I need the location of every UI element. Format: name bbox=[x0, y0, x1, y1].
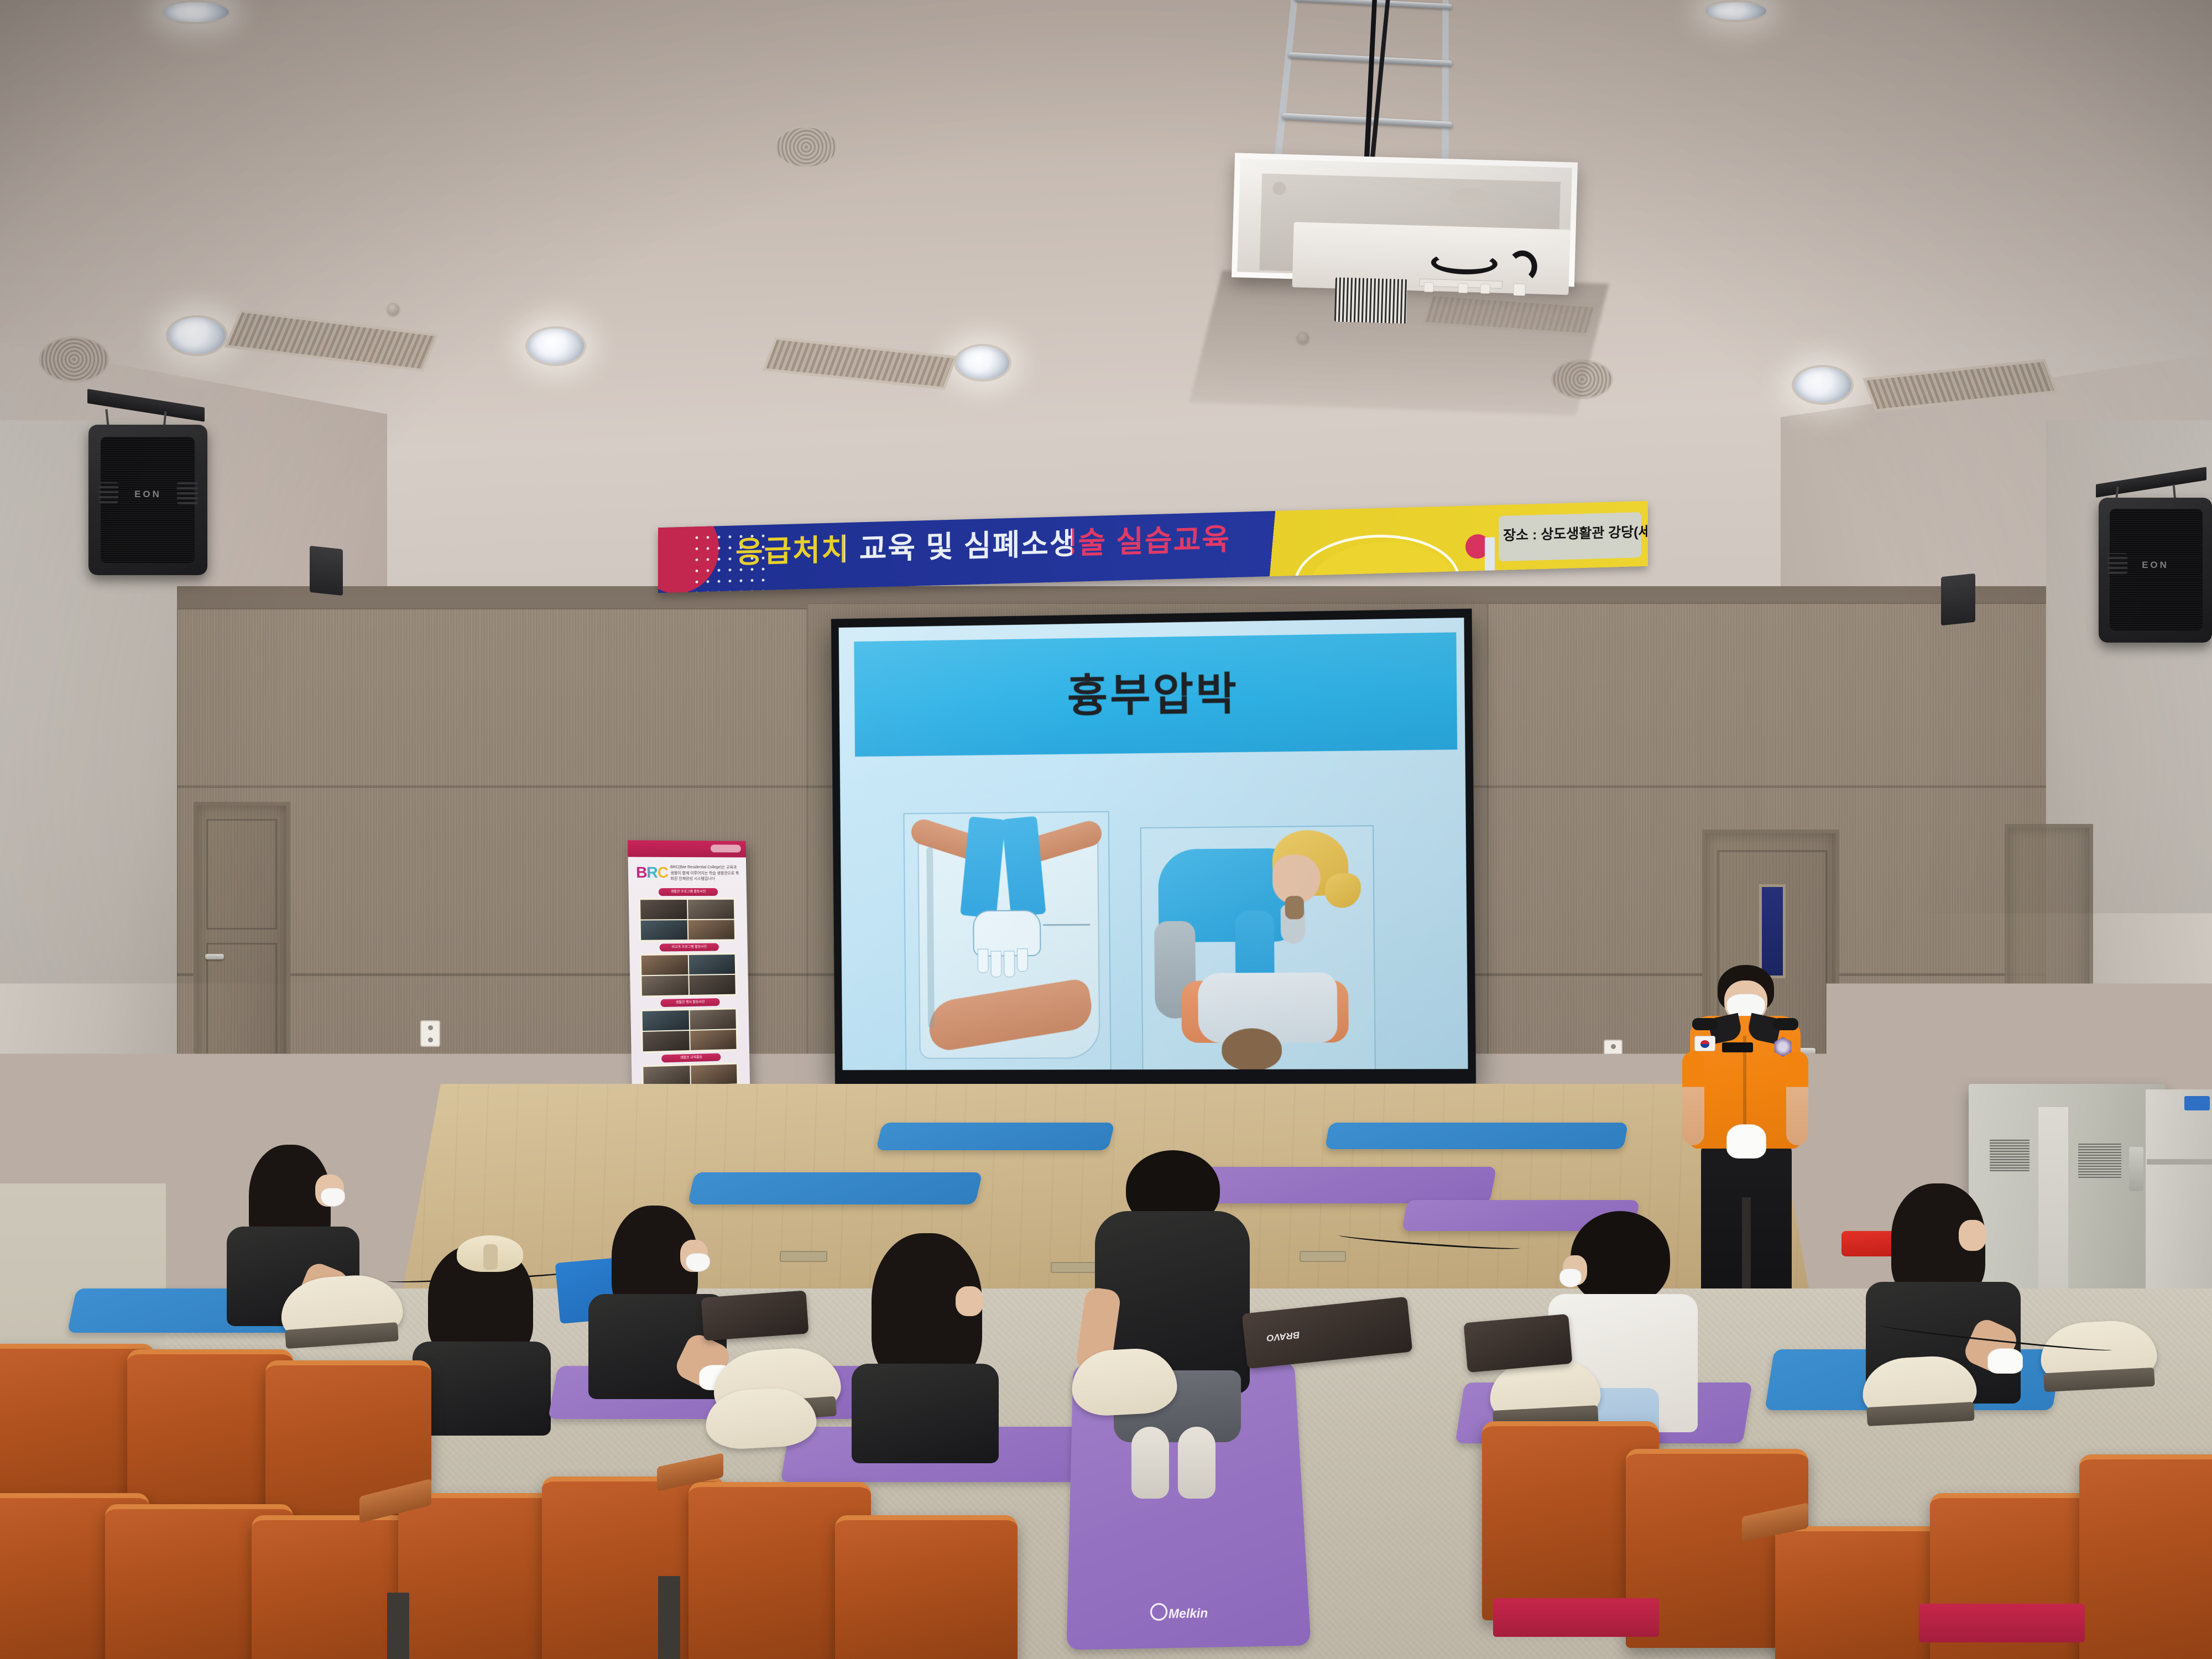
korean-flag-patch-icon bbox=[1694, 1036, 1715, 1051]
door-handle-left[interactable] bbox=[205, 954, 224, 959]
seat-cushion[interactable] bbox=[1493, 1598, 1659, 1637]
participant-shoe bbox=[1178, 1427, 1215, 1499]
rollup-photo bbox=[640, 900, 687, 919]
rollup-section-pill: 생활관 행사 활동사진 bbox=[660, 998, 719, 1007]
rollup-photo bbox=[690, 1009, 736, 1030]
rollup-subtitle: BRC(Bite Residential College)는 교육과 생활이 함… bbox=[670, 865, 740, 883]
rollup-photo bbox=[691, 1065, 737, 1085]
ceiling-speaker-icon bbox=[774, 126, 838, 168]
equipment-bag bbox=[701, 1290, 809, 1340]
wall-mount-bracket bbox=[310, 546, 343, 596]
ceiling-speaker-icon bbox=[39, 336, 109, 383]
projection-screen: 흉부압박 bbox=[839, 618, 1468, 1070]
door-left[interactable] bbox=[194, 802, 290, 1089]
projector-housing bbox=[1232, 153, 1578, 286]
lectern-latch[interactable] bbox=[2129, 1147, 2143, 1191]
wall-outlet[interactable] bbox=[1887, 1040, 1907, 1066]
rollup-photo bbox=[643, 1066, 690, 1087]
downlight-icon bbox=[954, 344, 1011, 382]
wall-mount-bracket bbox=[1941, 573, 1975, 626]
cabinet-shelf bbox=[2147, 1159, 2212, 1165]
participant-2 bbox=[409, 1239, 575, 1421]
rollup-photo bbox=[688, 900, 734, 919]
rollup-photo bbox=[690, 1030, 736, 1050]
rollup-photo bbox=[689, 954, 735, 974]
latex-gloves bbox=[1726, 1124, 1766, 1159]
banner-venue-text: 장소 : 상도생활관 강당(세미나실) bbox=[1503, 521, 1640, 545]
lectern-vent bbox=[1990, 1139, 2030, 1171]
stage-floor-box[interactable] bbox=[1300, 1251, 1346, 1262]
instructor-arm-right bbox=[1786, 1051, 1808, 1145]
exercise-mat-blue bbox=[687, 1172, 982, 1204]
rollup-photo-grid bbox=[639, 898, 736, 942]
slide-illustration-right bbox=[1140, 825, 1376, 1070]
rollup-photo bbox=[641, 955, 688, 975]
seat-cushion[interactable] bbox=[1919, 1604, 2085, 1642]
wall-outlet[interactable] bbox=[1604, 1040, 1623, 1065]
exercise-mat-blue bbox=[1325, 1123, 1628, 1149]
projector-lift-bracket bbox=[1273, 0, 1449, 179]
downlight-icon bbox=[166, 315, 228, 356]
rollup-photo bbox=[641, 975, 688, 995]
door-vision-panel bbox=[1759, 884, 1786, 978]
rollup-section-pill: 생활관 교육활동 bbox=[661, 1053, 721, 1063]
projector-vent-grille bbox=[1334, 278, 1407, 324]
participant-shoe bbox=[1131, 1427, 1169, 1499]
rollup-photo-grid bbox=[640, 1008, 738, 1053]
rollup-photo bbox=[643, 1010, 690, 1031]
instructor-nametag bbox=[1722, 1042, 1753, 1052]
seat-leg bbox=[658, 1576, 680, 1659]
side-cabinet bbox=[2146, 1089, 2212, 1300]
auditorium-seat[interactable] bbox=[1969, 1338, 2118, 1504]
auditorium-scene: 응급처치 교육 및 심폐소생술 실습교육 장소 : 상도생활관 강당(세미나실)… bbox=[0, 0, 2212, 1659]
rollup-org-mark bbox=[711, 844, 741, 852]
wall-speaker-left: EON bbox=[88, 425, 207, 575]
stage-floor-box[interactable] bbox=[780, 1251, 827, 1262]
slide-title-bar: 흉부압박 bbox=[854, 632, 1457, 757]
rollup-logo: BRC bbox=[636, 864, 668, 881]
seat-leg bbox=[387, 1593, 409, 1659]
downlight-icon bbox=[525, 326, 586, 366]
slide-title: 흉부압박 bbox=[854, 632, 1457, 757]
lectern-vent bbox=[2078, 1144, 2121, 1178]
rollup-section-pill: 비교과 프로그램 활동사진 bbox=[660, 943, 719, 952]
rollup-photo bbox=[689, 975, 735, 995]
sprinkler-head-icon bbox=[387, 303, 399, 315]
instructor-arm-left bbox=[1682, 1051, 1704, 1145]
rollup-photo bbox=[688, 920, 734, 940]
slide-illustration-left bbox=[903, 811, 1111, 1070]
projection-screen-frame: 흉부압박 bbox=[831, 609, 1476, 1084]
rollup-photo bbox=[643, 1031, 690, 1051]
downlight-icon bbox=[1792, 365, 1854, 405]
participant-4 bbox=[846, 1233, 1012, 1454]
wall-speaker-right: EON bbox=[2099, 498, 2212, 643]
banner-decor-bar bbox=[1485, 537, 1495, 576]
rollup-section-pill: 생활관 프로그램 활동사진 bbox=[659, 888, 718, 896]
wall-outlet[interactable] bbox=[420, 1020, 440, 1047]
equipment-bag bbox=[1463, 1314, 1572, 1373]
gym-bag-brand-label: BRAVO bbox=[1266, 1329, 1300, 1343]
cabinet-blue-item[interactable] bbox=[2184, 1096, 2210, 1110]
mat-brand-label: Melkin bbox=[1067, 1604, 1310, 1624]
rollup-photo bbox=[641, 920, 688, 940]
auditorium-seat[interactable] bbox=[835, 1515, 1018, 1659]
exercise-mat-blue bbox=[876, 1123, 1115, 1150]
downlight-icon bbox=[160, 0, 231, 24]
rollup-photo-grid bbox=[640, 953, 737, 998]
downlight-icon bbox=[1703, 0, 1768, 22]
